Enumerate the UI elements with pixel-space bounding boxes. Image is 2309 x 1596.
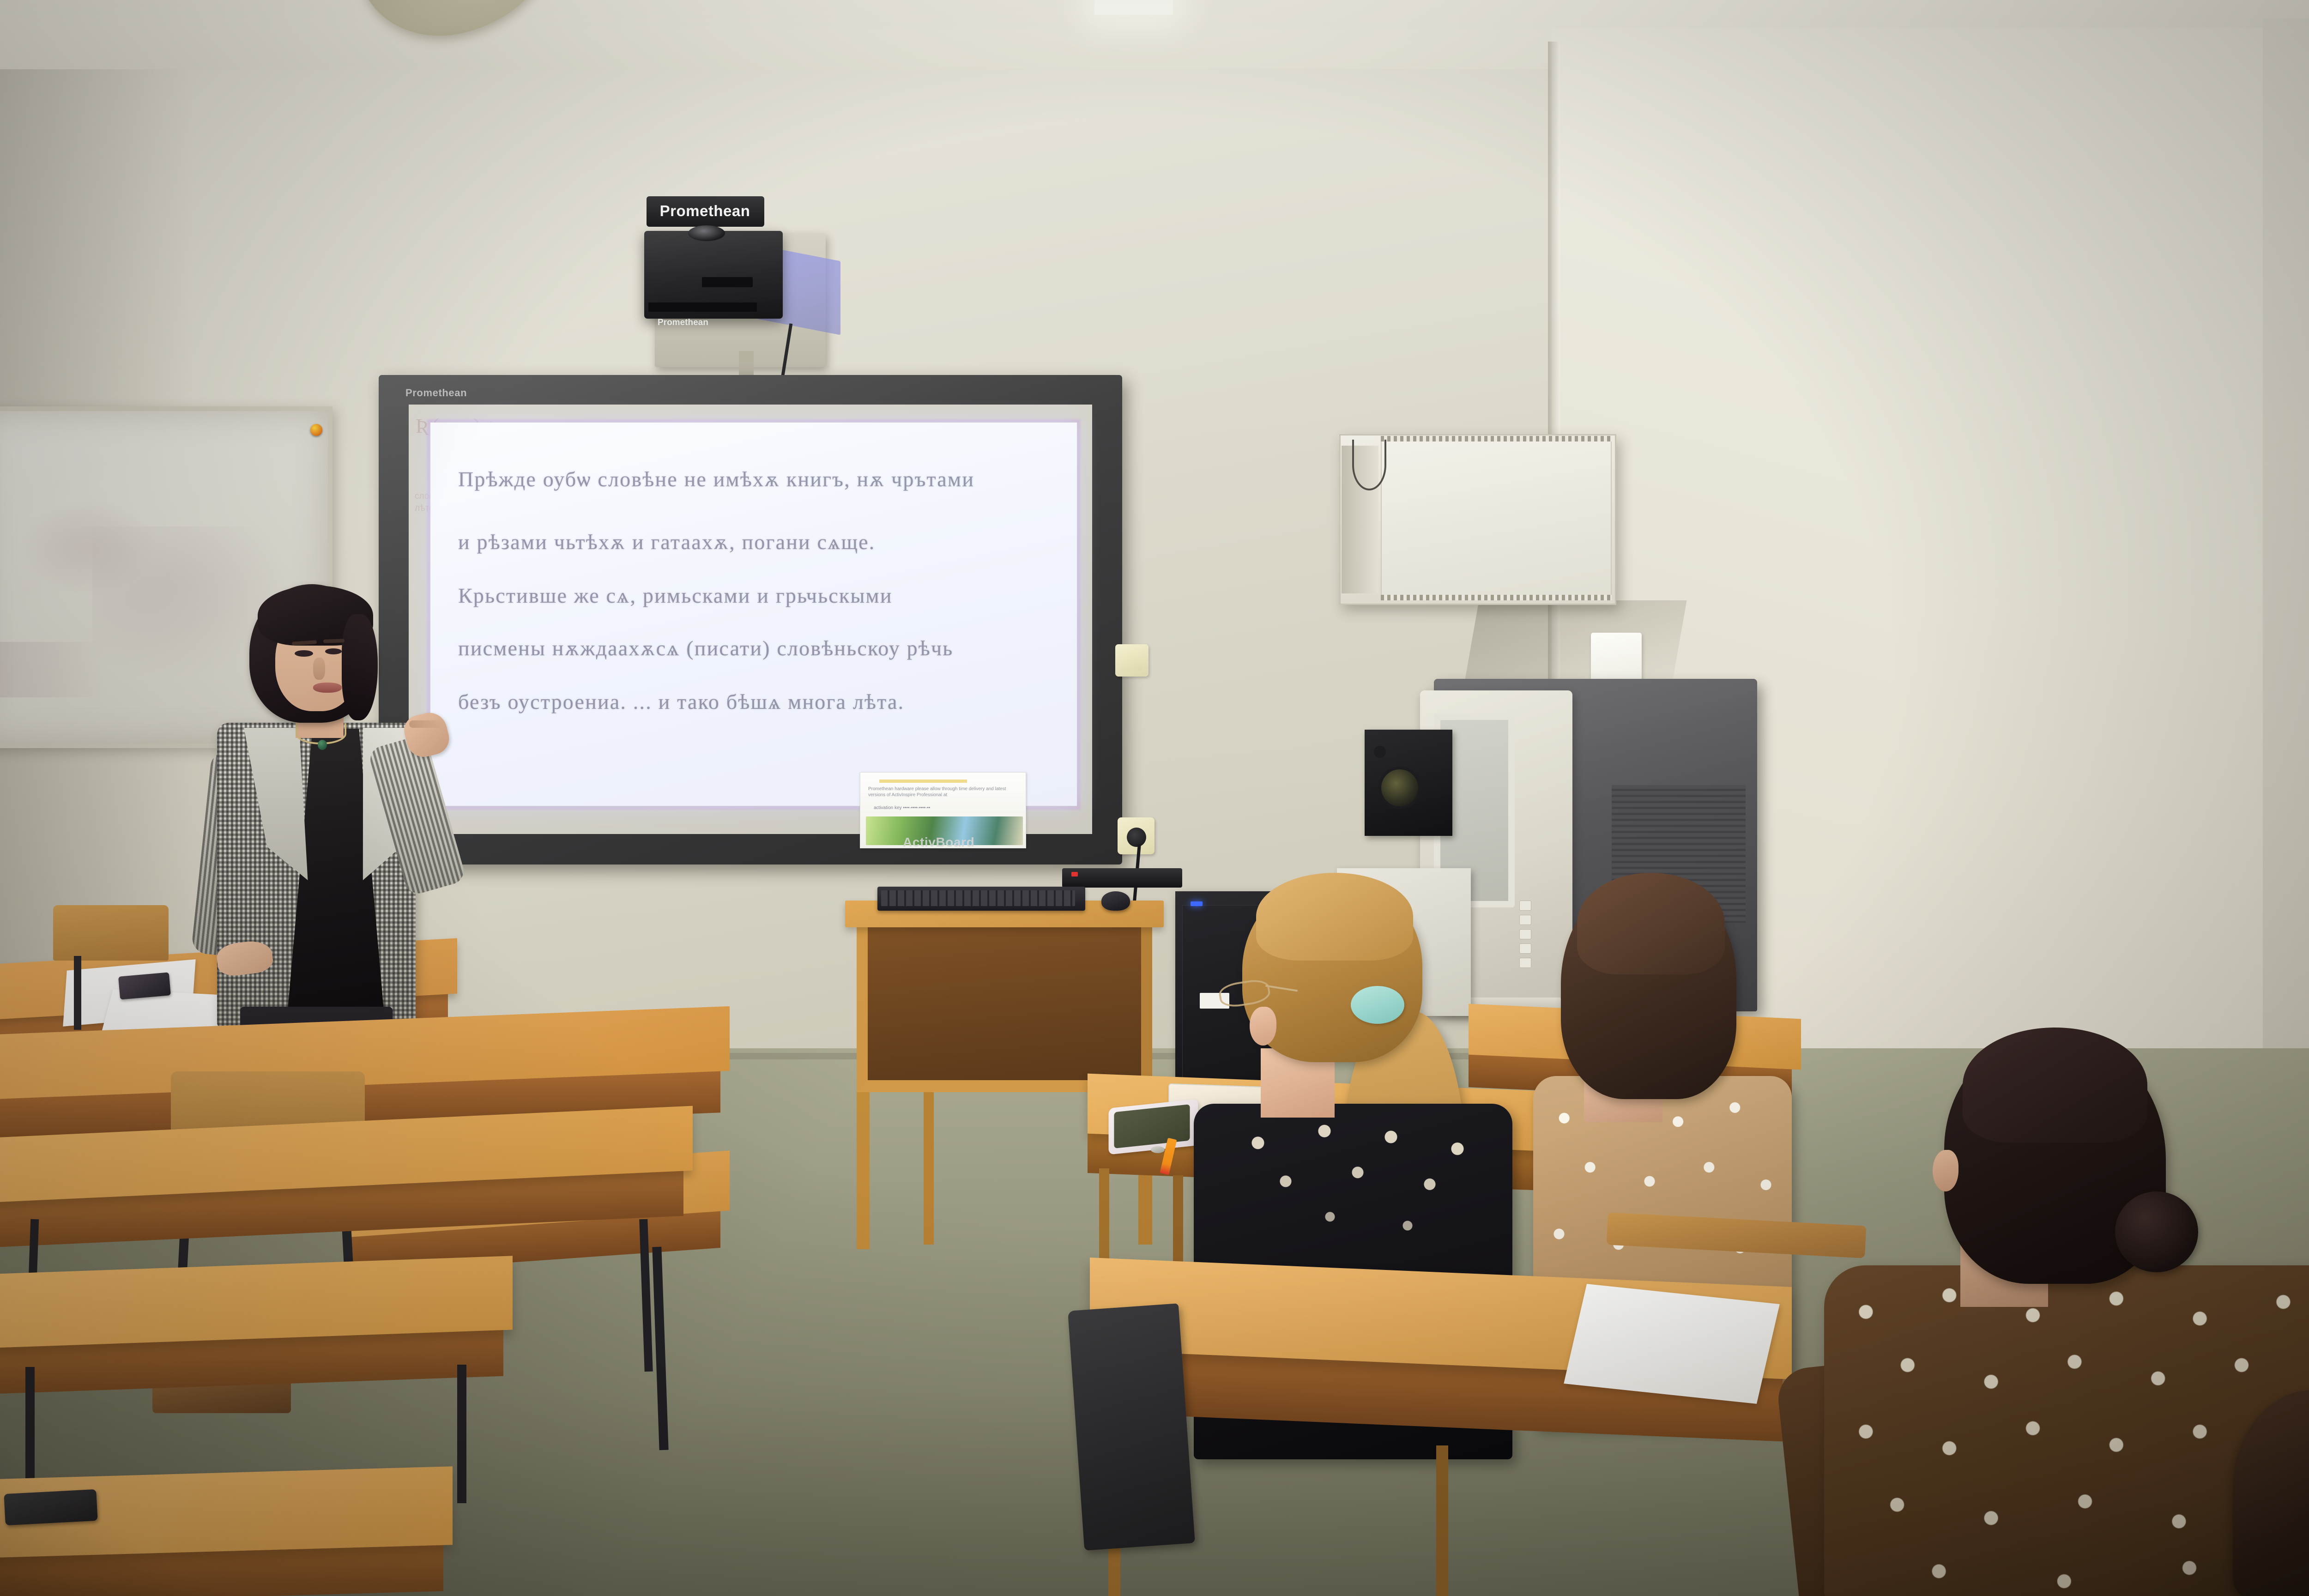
projector-lens — [688, 225, 725, 241]
slide-line-3: Крьстивше же сѧ, римьсками и грьчьскыми — [458, 583, 893, 608]
speaker-woofer-cone — [1378, 767, 1421, 809]
instructor-hand-knuckles — [409, 720, 443, 728]
student-hair-crown — [1963, 1028, 2147, 1143]
crt-monitor-button[interactable] — [1519, 901, 1531, 911]
power-strip[interactable] — [1062, 868, 1182, 888]
instructor-nose — [313, 658, 325, 680]
computer-desk-leg — [924, 1092, 934, 1245]
pc-tower-power-led — [1191, 901, 1203, 906]
computer-desk-shelf — [857, 926, 1152, 1092]
instructor-hair-side — [342, 614, 378, 720]
projected-slide: Прѣжде оубѡ словѣне не имѣхѫ книгъ, нѫ ч… — [430, 423, 1077, 806]
slide-line-5: безъ оустроениа. ... и тако бѣшѧ многа л… — [458, 689, 904, 714]
student-bag[interactable] — [1068, 1303, 1195, 1550]
wall-cabinet-top-vent — [1381, 436, 1612, 441]
sticker-text: Promethean hardware please allow through… — [868, 786, 1021, 798]
whiteboard-eraser[interactable] — [4, 1489, 97, 1525]
instructor-mouth — [313, 683, 342, 693]
hanging-wire — [1352, 440, 1386, 490]
instructor-eyebrow — [323, 639, 345, 643]
student-hair-bun — [2115, 1191, 2198, 1272]
projector-vent-slot — [702, 277, 753, 287]
keyboard-keys[interactable] — [881, 890, 1075, 906]
whiteboard-magnet[interactable] — [310, 424, 322, 436]
chair-leg — [74, 956, 81, 1030]
classroom-photograph: Promethean Promethean Promethean Ʀ ( ъ а… — [0, 0, 2309, 1596]
sticker-activation-codes: activation key ••••-••••-••••-•• — [874, 805, 1022, 810]
instructor-necklace-pendant — [318, 740, 327, 750]
classroom-chair-back[interactable] — [53, 905, 169, 961]
computer-desk-leg — [857, 1092, 870, 1249]
crt-monitor-button[interactable] — [1519, 958, 1531, 968]
instructor-eye — [325, 648, 342, 654]
whiteboard-residue-smudge — [0, 642, 106, 697]
activboard-brand-bottom-label: ActivBoard — [903, 835, 1023, 850]
wall-cabinet-bottom-vent — [1381, 595, 1612, 600]
hair-scrunchie — [1351, 986, 1404, 1024]
smartphone-on-teacher-desk[interactable] — [118, 972, 171, 999]
projector-stripe — [648, 302, 757, 312]
crt-monitor-button-row[interactable] — [1519, 901, 1536, 979]
metal-pin[interactable] — [1151, 1146, 1165, 1153]
speaker-tweeter — [1374, 746, 1386, 758]
wall-cabinet-door[interactable] — [1381, 440, 1612, 599]
computer-mouse[interactable] — [1101, 891, 1130, 911]
student-desk-leg — [1436, 1445, 1448, 1596]
crt-monitor-button[interactable] — [1519, 943, 1531, 954]
student-ear — [1933, 1150, 1958, 1191]
desk-leg — [457, 1365, 466, 1503]
student-ear — [1250, 1007, 1276, 1046]
power-outlet-socket[interactable] — [1127, 828, 1146, 847]
power-strip-led — [1071, 872, 1078, 877]
light-switch-rocker[interactable] — [1121, 650, 1142, 671]
projector-body-brand-label: Promethean — [658, 318, 755, 328]
activboard-brand-top-label: Promethean — [405, 387, 507, 399]
crt-monitor-button[interactable] — [1519, 929, 1531, 939]
crt-monitor-button[interactable] — [1519, 915, 1531, 925]
student-hair-crown — [1577, 873, 1725, 974]
student-paper-sheets[interactable] — [1564, 1284, 1780, 1404]
slide-line-2: и рѣзами чьтѣхѫ и гатаахѫ, погани сѧще. — [458, 530, 875, 554]
student-hair-crown — [1256, 873, 1413, 961]
slide-line-4: писмены нѫждаахѫсѧ (писати) словѣньскоу … — [458, 636, 953, 660]
slide-line-1: Прѣжде оубѡ словѣне не имѣхѫ книгъ, нѫ ч… — [458, 467, 974, 491]
ceiling-light-panel — [1094, 0, 1173, 15]
instructor-eye — [295, 650, 313, 657]
sticker-highlight-bar — [879, 780, 967, 783]
projector-brand-label: Promethean — [648, 201, 762, 221]
